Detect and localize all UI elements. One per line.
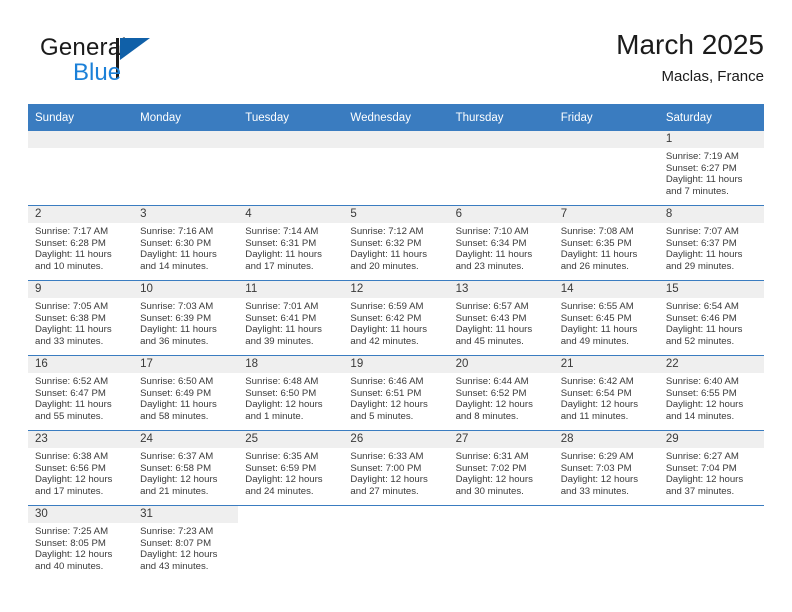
calendar-day-cell[interactable]: 22Sunrise: 6:40 AMSunset: 6:55 PMDayligh…	[659, 356, 764, 431]
daylight-text-line2: and 36 minutes.	[140, 336, 233, 348]
day-details: Sunrise: 7:05 AMSunset: 6:38 PMDaylight:…	[28, 298, 133, 347]
sunset-text: Sunset: 6:49 PM	[140, 388, 233, 400]
page-header: General Blue March 2025 Maclas, France	[28, 28, 764, 100]
day-details: Sunrise: 6:29 AMSunset: 7:03 PMDaylight:…	[554, 448, 659, 497]
sunset-text: Sunset: 6:45 PM	[561, 313, 654, 325]
sunrise-text: Sunrise: 7:07 AM	[666, 226, 759, 238]
day-number: 1	[659, 131, 764, 148]
sunset-text: Sunset: 6:42 PM	[350, 313, 443, 325]
calendar-empty-cell	[449, 506, 554, 581]
calendar-empty-cell	[28, 131, 133, 206]
sunrise-text: Sunrise: 6:37 AM	[140, 451, 233, 463]
daylight-text-line1: Daylight: 11 hours	[140, 249, 233, 261]
day-number: 29	[659, 431, 764, 448]
day-number: 18	[238, 356, 343, 373]
calendar-day-cell[interactable]: 12Sunrise: 6:59 AMSunset: 6:42 PMDayligh…	[343, 281, 448, 356]
day-number: 20	[449, 356, 554, 373]
daylight-text-line2: and 1 minute.	[245, 411, 338, 423]
day-number: 31	[133, 506, 238, 523]
sunset-text: Sunset: 6:55 PM	[666, 388, 759, 400]
daylight-text-line1: Daylight: 12 hours	[140, 474, 233, 486]
calendar-week-row: 30Sunrise: 7:25 AMSunset: 8:05 PMDayligh…	[28, 506, 764, 581]
daylight-text-line1: Daylight: 11 hours	[35, 249, 128, 261]
calendar-empty-cell	[659, 506, 764, 581]
sunrise-text: Sunrise: 6:31 AM	[456, 451, 549, 463]
weekday-header-wednesday: Wednesday	[343, 104, 448, 131]
calendar-week-row: 9Sunrise: 7:05 AMSunset: 6:38 PMDaylight…	[28, 281, 764, 356]
sunrise-text: Sunrise: 7:25 AM	[35, 526, 128, 538]
calendar-empty-cell	[554, 506, 659, 581]
day-number: 30	[28, 506, 133, 523]
blue-flag-icon	[116, 36, 152, 62]
daylight-text-line2: and 42 minutes.	[350, 336, 443, 348]
day-number: 9	[28, 281, 133, 298]
sunrise-text: Sunrise: 6:42 AM	[561, 376, 654, 388]
daylight-text-line1: Daylight: 12 hours	[561, 474, 654, 486]
calendar-day-cell[interactable]: 19Sunrise: 6:46 AMSunset: 6:51 PMDayligh…	[343, 356, 448, 431]
sunrise-text: Sunrise: 7:05 AM	[35, 301, 128, 313]
sunset-text: Sunset: 6:56 PM	[35, 463, 128, 475]
daylight-text-line1: Daylight: 11 hours	[666, 249, 759, 261]
day-number: 6	[449, 206, 554, 223]
sunset-text: Sunset: 6:28 PM	[35, 238, 128, 250]
sunrise-text: Sunrise: 6:27 AM	[666, 451, 759, 463]
day-number: 3	[133, 206, 238, 223]
sunrise-text: Sunrise: 6:44 AM	[456, 376, 549, 388]
calendar-empty-cell	[343, 131, 448, 206]
day-details: Sunrise: 7:03 AMSunset: 6:39 PMDaylight:…	[133, 298, 238, 347]
daylight-text-line2: and 17 minutes.	[245, 261, 338, 273]
title-block: March 2025 Maclas, France	[616, 28, 764, 88]
daylight-text-line2: and 55 minutes.	[35, 411, 128, 423]
sunrise-text: Sunrise: 7:23 AM	[140, 526, 233, 538]
calendar-day-cell[interactable]: 5Sunrise: 7:12 AMSunset: 6:32 PMDaylight…	[343, 206, 448, 281]
daylight-text-line2: and 39 minutes.	[245, 336, 338, 348]
daylight-text-line2: and 30 minutes.	[456, 486, 549, 498]
daylight-text-line2: and 8 minutes.	[456, 411, 549, 423]
calendar-week-row: 23Sunrise: 6:38 AMSunset: 6:56 PMDayligh…	[28, 431, 764, 506]
day-details: Sunrise: 6:46 AMSunset: 6:51 PMDaylight:…	[343, 373, 448, 422]
sunrise-text: Sunrise: 7:16 AM	[140, 226, 233, 238]
daylight-text-line2: and 10 minutes.	[35, 261, 128, 273]
day-number: 15	[659, 281, 764, 298]
sunrise-text: Sunrise: 6:50 AM	[140, 376, 233, 388]
daylight-text-line1: Daylight: 11 hours	[350, 324, 443, 336]
sunset-text: Sunset: 6:39 PM	[140, 313, 233, 325]
weekday-header-thursday: Thursday	[449, 104, 554, 131]
calendar-day-cell[interactable]: 31Sunrise: 7:23 AMSunset: 8:07 PMDayligh…	[133, 506, 238, 581]
day-details: Sunrise: 6:35 AMSunset: 6:59 PMDaylight:…	[238, 448, 343, 497]
calendar-day-cell[interactable]: 17Sunrise: 6:50 AMSunset: 6:49 PMDayligh…	[133, 356, 238, 431]
day-details: Sunrise: 7:07 AMSunset: 6:37 PMDaylight:…	[659, 223, 764, 272]
day-details: Sunrise: 7:01 AMSunset: 6:41 PMDaylight:…	[238, 298, 343, 347]
sunset-text: Sunset: 6:46 PM	[666, 313, 759, 325]
sunrise-text: Sunrise: 6:40 AM	[666, 376, 759, 388]
day-details: Sunrise: 6:38 AMSunset: 6:56 PMDaylight:…	[28, 448, 133, 497]
calendar-day-cell[interactable]: 3Sunrise: 7:16 AMSunset: 6:30 PMDaylight…	[133, 206, 238, 281]
day-number: 4	[238, 206, 343, 223]
daylight-text-line1: Daylight: 11 hours	[666, 174, 759, 186]
sunrise-text: Sunrise: 7:03 AM	[140, 301, 233, 313]
day-details: Sunrise: 6:40 AMSunset: 6:55 PMDaylight:…	[659, 373, 764, 422]
day-number: 26	[343, 431, 448, 448]
calendar-day-cell[interactable]: 13Sunrise: 6:57 AMSunset: 6:43 PMDayligh…	[449, 281, 554, 356]
weekday-header-row: Sunday Monday Tuesday Wednesday Thursday…	[28, 104, 764, 131]
daylight-text-line1: Daylight: 11 hours	[35, 399, 128, 411]
daylight-text-line1: Daylight: 11 hours	[245, 249, 338, 261]
sunset-text: Sunset: 6:54 PM	[561, 388, 654, 400]
day-details: Sunrise: 6:50 AMSunset: 6:49 PMDaylight:…	[133, 373, 238, 422]
daylight-text-line2: and 5 minutes.	[350, 411, 443, 423]
sunset-text: Sunset: 7:03 PM	[561, 463, 654, 475]
weekday-header-friday: Friday	[554, 104, 659, 131]
day-details: Sunrise: 7:10 AMSunset: 6:34 PMDaylight:…	[449, 223, 554, 272]
calendar-empty-cell	[449, 131, 554, 206]
daylight-text-line1: Daylight: 11 hours	[350, 249, 443, 261]
daylight-text-line2: and 20 minutes.	[350, 261, 443, 273]
day-number: 17	[133, 356, 238, 373]
daylight-text-line1: Daylight: 12 hours	[456, 399, 549, 411]
sunrise-text: Sunrise: 6:55 AM	[561, 301, 654, 313]
calendar-day-cell[interactable]: 6Sunrise: 7:10 AMSunset: 6:34 PMDaylight…	[449, 206, 554, 281]
day-details: Sunrise: 6:31 AMSunset: 7:02 PMDaylight:…	[449, 448, 554, 497]
day-details: Sunrise: 6:54 AMSunset: 6:46 PMDaylight:…	[659, 298, 764, 347]
calendar-week-row: 16Sunrise: 6:52 AMSunset: 6:47 PMDayligh…	[28, 356, 764, 431]
daylight-text-line1: Daylight: 12 hours	[35, 549, 128, 561]
calendar-day-cell[interactable]: 11Sunrise: 7:01 AMSunset: 6:41 PMDayligh…	[238, 281, 343, 356]
daylight-text-line1: Daylight: 12 hours	[245, 474, 338, 486]
day-details: Sunrise: 6:55 AMSunset: 6:45 PMDaylight:…	[554, 298, 659, 347]
day-number	[133, 131, 238, 148]
day-number: 13	[449, 281, 554, 298]
sunrise-text: Sunrise: 6:38 AM	[35, 451, 128, 463]
sunrise-text: Sunrise: 6:57 AM	[456, 301, 549, 313]
weekday-header-saturday: Saturday	[659, 104, 764, 131]
calendar-empty-cell	[238, 131, 343, 206]
sunset-text: Sunset: 6:41 PM	[245, 313, 338, 325]
daylight-text-line1: Daylight: 11 hours	[35, 324, 128, 336]
daylight-text-line1: Daylight: 11 hours	[456, 324, 549, 336]
daylight-text-line1: Daylight: 11 hours	[140, 399, 233, 411]
daylight-text-line1: Daylight: 11 hours	[561, 324, 654, 336]
daylight-text-line1: Daylight: 12 hours	[456, 474, 549, 486]
daylight-text-line1: Daylight: 11 hours	[245, 324, 338, 336]
brand-logo[interactable]: General Blue	[40, 34, 270, 94]
sunset-text: Sunset: 6:35 PM	[561, 238, 654, 250]
daylight-text-line1: Daylight: 12 hours	[35, 474, 128, 486]
sunrise-text: Sunrise: 7:17 AM	[35, 226, 128, 238]
daylight-text-line2: and 52 minutes.	[666, 336, 759, 348]
day-details: Sunrise: 6:27 AMSunset: 7:04 PMDaylight:…	[659, 448, 764, 497]
daylight-text-line2: and 37 minutes.	[666, 486, 759, 498]
daylight-text-line2: and 23 minutes.	[456, 261, 549, 273]
sunrise-text: Sunrise: 7:08 AM	[561, 226, 654, 238]
calendar-day-cell[interactable]: 15Sunrise: 6:54 AMSunset: 6:46 PMDayligh…	[659, 281, 764, 356]
daylight-text-line1: Daylight: 12 hours	[666, 399, 759, 411]
calendar-empty-cell	[343, 506, 448, 581]
day-number: 10	[133, 281, 238, 298]
day-number	[28, 131, 133, 148]
day-details: Sunrise: 7:08 AMSunset: 6:35 PMDaylight:…	[554, 223, 659, 272]
sunset-text: Sunset: 6:47 PM	[35, 388, 128, 400]
sunset-text: Sunset: 6:59 PM	[245, 463, 338, 475]
calendar-day-cell[interactable]: 26Sunrise: 6:33 AMSunset: 7:00 PMDayligh…	[343, 431, 448, 506]
day-details: Sunrise: 7:23 AMSunset: 8:07 PMDaylight:…	[133, 523, 238, 572]
sunset-text: Sunset: 6:30 PM	[140, 238, 233, 250]
day-details: Sunrise: 6:42 AMSunset: 6:54 PMDaylight:…	[554, 373, 659, 422]
day-number: 24	[133, 431, 238, 448]
daylight-text-line2: and 24 minutes.	[245, 486, 338, 498]
day-details: Sunrise: 7:17 AMSunset: 6:28 PMDaylight:…	[28, 223, 133, 272]
daylight-text-line1: Daylight: 11 hours	[666, 324, 759, 336]
calendar-day-cell[interactable]: 7Sunrise: 7:08 AMSunset: 6:35 PMDaylight…	[554, 206, 659, 281]
daylight-text-line2: and 33 minutes.	[35, 336, 128, 348]
day-details: Sunrise: 7:12 AMSunset: 6:32 PMDaylight:…	[343, 223, 448, 272]
day-number: 7	[554, 206, 659, 223]
daylight-text-line2: and 7 minutes.	[666, 186, 759, 198]
calendar-page: General Blue March 2025 Maclas, France S…	[0, 0, 792, 612]
brand-name-general: General	[40, 34, 127, 62]
page-title: March 2025	[616, 28, 764, 62]
daylight-text-line2: and 45 minutes.	[456, 336, 549, 348]
day-number	[554, 131, 659, 148]
calendar-day-cell[interactable]: 29Sunrise: 6:27 AMSunset: 7:04 PMDayligh…	[659, 431, 764, 506]
sunrise-text: Sunrise: 6:29 AM	[561, 451, 654, 463]
daylight-text-line1: Daylight: 11 hours	[561, 249, 654, 261]
sunrise-text: Sunrise: 7:10 AM	[456, 226, 549, 238]
sunset-text: Sunset: 6:50 PM	[245, 388, 338, 400]
calendar-day-cell[interactable]: 20Sunrise: 6:44 AMSunset: 6:52 PMDayligh…	[449, 356, 554, 431]
day-details: Sunrise: 7:19 AMSunset: 6:27 PMDaylight:…	[659, 148, 764, 197]
sunset-text: Sunset: 7:04 PM	[666, 463, 759, 475]
day-number: 23	[28, 431, 133, 448]
calendar-day-cell[interactable]: 4Sunrise: 7:14 AMSunset: 6:31 PMDaylight…	[238, 206, 343, 281]
calendar-day-cell[interactable]: 2Sunrise: 7:17 AMSunset: 6:28 PMDaylight…	[28, 206, 133, 281]
day-number: 11	[238, 281, 343, 298]
daylight-text-line2: and 17 minutes.	[35, 486, 128, 498]
sunset-text: Sunset: 6:31 PM	[245, 238, 338, 250]
day-details: Sunrise: 7:25 AMSunset: 8:05 PMDaylight:…	[28, 523, 133, 572]
daylight-text-line1: Daylight: 11 hours	[140, 324, 233, 336]
day-details: Sunrise: 6:33 AMSunset: 7:00 PMDaylight:…	[343, 448, 448, 497]
calendar-week-row: 2Sunrise: 7:17 AMSunset: 6:28 PMDaylight…	[28, 206, 764, 281]
daylight-text-line1: Daylight: 12 hours	[140, 549, 233, 561]
daylight-text-line2: and 21 minutes.	[140, 486, 233, 498]
sunset-text: Sunset: 6:34 PM	[456, 238, 549, 250]
daylight-text-line2: and 40 minutes.	[35, 561, 128, 573]
daylight-text-line1: Daylight: 12 hours	[245, 399, 338, 411]
weekday-header-tuesday: Tuesday	[238, 104, 343, 131]
calendar-day-cell[interactable]: 27Sunrise: 6:31 AMSunset: 7:02 PMDayligh…	[449, 431, 554, 506]
sunset-text: Sunset: 6:27 PM	[666, 163, 759, 175]
day-number: 28	[554, 431, 659, 448]
day-details: Sunrise: 6:44 AMSunset: 6:52 PMDaylight:…	[449, 373, 554, 422]
calendar-day-cell[interactable]: 8Sunrise: 7:07 AMSunset: 6:37 PMDaylight…	[659, 206, 764, 281]
day-number: 16	[28, 356, 133, 373]
sunset-text: Sunset: 8:07 PM	[140, 538, 233, 550]
daylight-text-line1: Daylight: 11 hours	[456, 249, 549, 261]
calendar-week-row: 1Sunrise: 7:19 AMSunset: 6:27 PMDaylight…	[28, 131, 764, 206]
day-details: Sunrise: 6:48 AMSunset: 6:50 PMDaylight:…	[238, 373, 343, 422]
daylight-text-line2: and 11 minutes.	[561, 411, 654, 423]
daylight-text-line2: and 26 minutes.	[561, 261, 654, 273]
sunset-text: Sunset: 6:32 PM	[350, 238, 443, 250]
sunrise-text: Sunrise: 7:19 AM	[666, 151, 759, 163]
sunrise-text: Sunrise: 7:01 AM	[245, 301, 338, 313]
calendar-empty-cell	[554, 131, 659, 206]
sunrise-text: Sunrise: 6:52 AM	[35, 376, 128, 388]
calendar-day-cell[interactable]: 14Sunrise: 6:55 AMSunset: 6:45 PMDayligh…	[554, 281, 659, 356]
sunset-text: Sunset: 6:38 PM	[35, 313, 128, 325]
sunrise-text: Sunrise: 6:59 AM	[350, 301, 443, 313]
sunset-text: Sunset: 6:43 PM	[456, 313, 549, 325]
day-number: 25	[238, 431, 343, 448]
sunset-text: Sunset: 6:37 PM	[666, 238, 759, 250]
day-details: Sunrise: 7:16 AMSunset: 6:30 PMDaylight:…	[133, 223, 238, 272]
sunrise-text: Sunrise: 6:54 AM	[666, 301, 759, 313]
sunset-text: Sunset: 6:58 PM	[140, 463, 233, 475]
day-number: 8	[659, 206, 764, 223]
day-number: 5	[343, 206, 448, 223]
day-number	[238, 131, 343, 148]
day-number: 19	[343, 356, 448, 373]
daylight-text-line2: and 58 minutes.	[140, 411, 233, 423]
calendar-day-cell[interactable]: 21Sunrise: 6:42 AMSunset: 6:54 PMDayligh…	[554, 356, 659, 431]
day-number: 12	[343, 281, 448, 298]
sunset-text: Sunset: 6:52 PM	[456, 388, 549, 400]
day-number: 21	[554, 356, 659, 373]
daylight-text-line2: and 43 minutes.	[140, 561, 233, 573]
day-number: 14	[554, 281, 659, 298]
daylight-text-line2: and 29 minutes.	[666, 261, 759, 273]
calendar-empty-cell	[238, 506, 343, 581]
day-number: 27	[449, 431, 554, 448]
day-details: Sunrise: 6:52 AMSunset: 6:47 PMDaylight:…	[28, 373, 133, 422]
sunrise-text: Sunrise: 6:46 AM	[350, 376, 443, 388]
day-details: Sunrise: 6:59 AMSunset: 6:42 PMDaylight:…	[343, 298, 448, 347]
daylight-text-line2: and 49 minutes.	[561, 336, 654, 348]
calendar-body: 1Sunrise: 7:19 AMSunset: 6:27 PMDaylight…	[28, 131, 764, 580]
daylight-text-line2: and 14 minutes.	[666, 411, 759, 423]
weekday-header-monday: Monday	[133, 104, 238, 131]
daylight-text-line2: and 27 minutes.	[350, 486, 443, 498]
day-number	[343, 131, 448, 148]
calendar-day-cell[interactable]: 9Sunrise: 7:05 AMSunset: 6:38 PMDaylight…	[28, 281, 133, 356]
sunset-text: Sunset: 6:51 PM	[350, 388, 443, 400]
sunset-text: Sunset: 7:00 PM	[350, 463, 443, 475]
sunrise-text: Sunrise: 7:14 AM	[245, 226, 338, 238]
sunset-text: Sunset: 8:05 PM	[35, 538, 128, 550]
month-calendar: Sunday Monday Tuesday Wednesday Thursday…	[28, 104, 764, 580]
day-details: Sunrise: 7:14 AMSunset: 6:31 PMDaylight:…	[238, 223, 343, 272]
calendar-day-cell[interactable]: 28Sunrise: 6:29 AMSunset: 7:03 PMDayligh…	[554, 431, 659, 506]
brand-name-blue: Blue	[73, 59, 121, 87]
sunrise-text: Sunrise: 6:35 AM	[245, 451, 338, 463]
daylight-text-line1: Daylight: 12 hours	[561, 399, 654, 411]
calendar-day-cell[interactable]: 1Sunrise: 7:19 AMSunset: 6:27 PMDaylight…	[659, 131, 764, 206]
daylight-text-line2: and 14 minutes.	[140, 261, 233, 273]
day-details: Sunrise: 6:37 AMSunset: 6:58 PMDaylight:…	[133, 448, 238, 497]
page-subtitle: Maclas, France	[616, 66, 764, 88]
sunset-text: Sunset: 7:02 PM	[456, 463, 549, 475]
daylight-text-line1: Daylight: 12 hours	[666, 474, 759, 486]
day-number	[449, 131, 554, 148]
daylight-text-line1: Daylight: 12 hours	[350, 474, 443, 486]
day-number: 2	[28, 206, 133, 223]
calendar-day-cell[interactable]: 25Sunrise: 6:35 AMSunset: 6:59 PMDayligh…	[238, 431, 343, 506]
weekday-header-sunday: Sunday	[28, 104, 133, 131]
calendar-day-cell[interactable]: 30Sunrise: 7:25 AMSunset: 8:05 PMDayligh…	[28, 506, 133, 581]
day-number: 22	[659, 356, 764, 373]
calendar-empty-cell	[133, 131, 238, 206]
calendar-day-cell[interactable]: 10Sunrise: 7:03 AMSunset: 6:39 PMDayligh…	[133, 281, 238, 356]
sunrise-text: Sunrise: 6:48 AM	[245, 376, 338, 388]
daylight-text-line2: and 33 minutes.	[561, 486, 654, 498]
flag-triangle	[120, 38, 150, 60]
calendar-day-cell[interactable]: 16Sunrise: 6:52 AMSunset: 6:47 PMDayligh…	[28, 356, 133, 431]
sunrise-text: Sunrise: 6:33 AM	[350, 451, 443, 463]
daylight-text-line1: Daylight: 12 hours	[350, 399, 443, 411]
day-details: Sunrise: 6:57 AMSunset: 6:43 PMDaylight:…	[449, 298, 554, 347]
calendar-day-cell[interactable]: 18Sunrise: 6:48 AMSunset: 6:50 PMDayligh…	[238, 356, 343, 431]
calendar-day-cell[interactable]: 23Sunrise: 6:38 AMSunset: 6:56 PMDayligh…	[28, 431, 133, 506]
sunrise-text: Sunrise: 7:12 AM	[350, 226, 443, 238]
calendar-day-cell[interactable]: 24Sunrise: 6:37 AMSunset: 6:58 PMDayligh…	[133, 431, 238, 506]
